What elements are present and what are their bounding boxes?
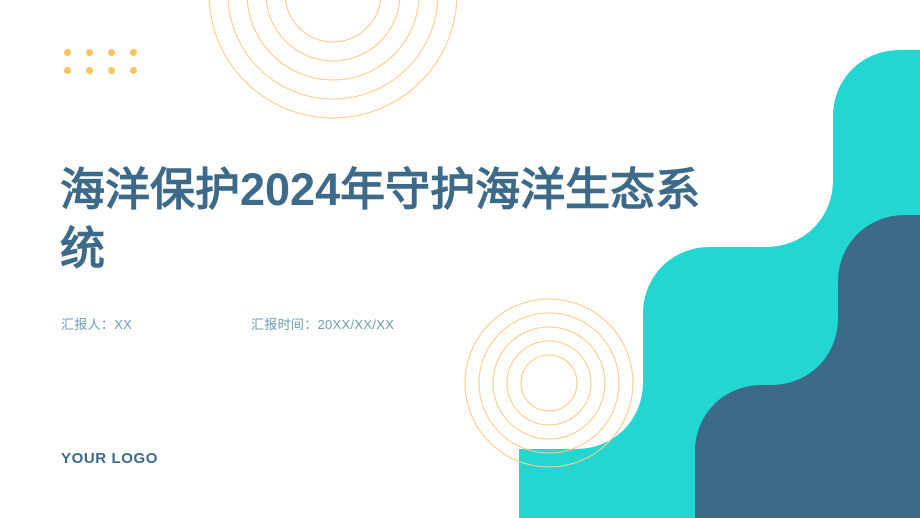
- presenter-label: 汇报人：XX: [61, 314, 132, 333]
- report-date-label: 汇报时间：20XX/XX/XX: [251, 314, 394, 333]
- slide-title: 海洋保护2024年守护海洋生态系统: [60, 160, 710, 279]
- presentation-slide: 海洋保护2024年守护海洋生态系统 汇报人：XX 汇报时间：20XX/XX/XX…: [0, 0, 920, 518]
- slide-content: 海洋保护2024年守护海洋生态系统 汇报人：XX 汇报时间：20XX/XX/XX…: [0, 0, 920, 518]
- logo-text: YOUR LOGO: [61, 450, 158, 467]
